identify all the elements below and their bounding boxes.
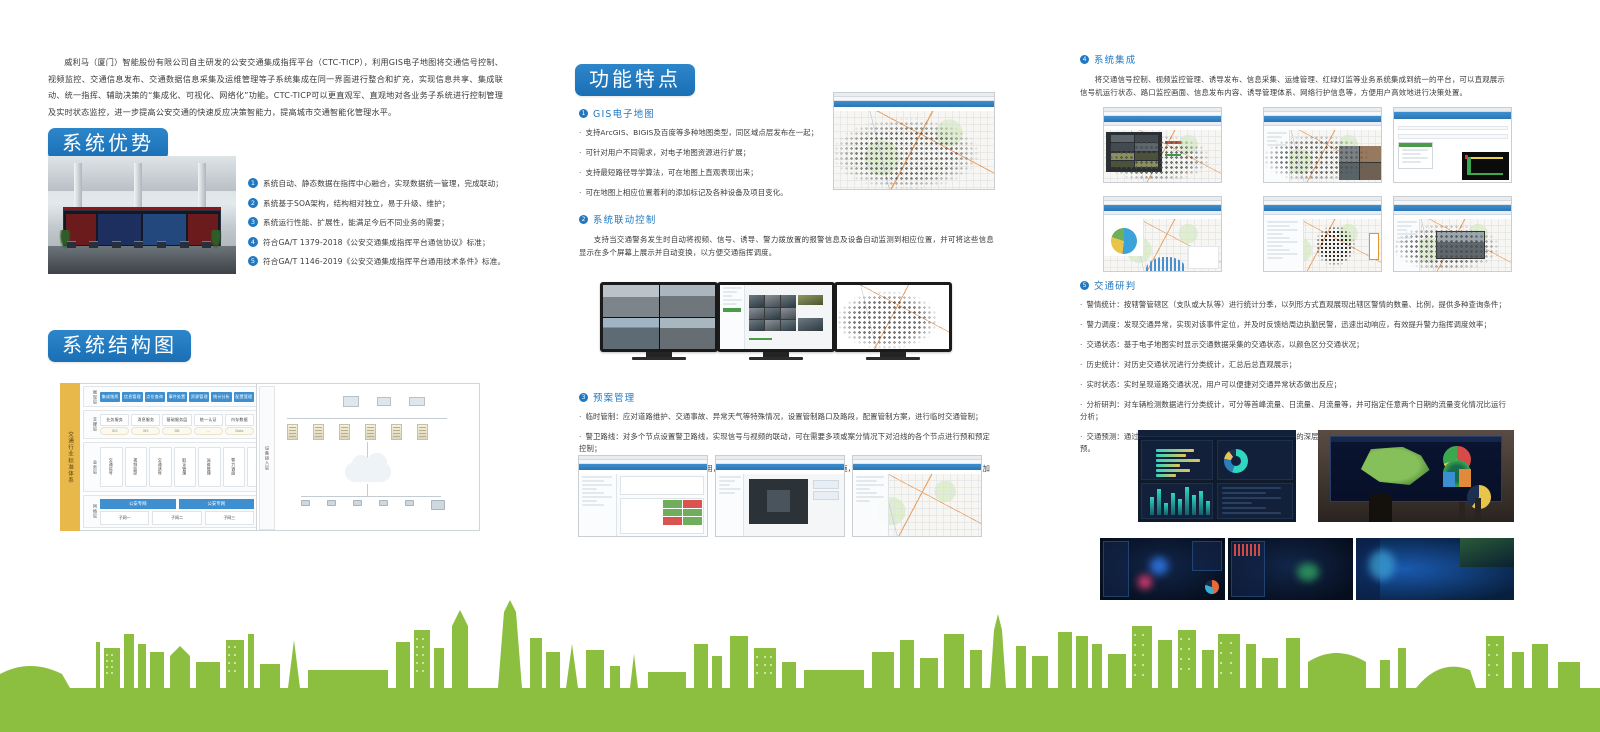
screenshot-plan-list (578, 455, 708, 537)
screenshot-integration-5 (1263, 196, 1382, 272)
feature-item: 警卫路线：对多个节点设置警卫路线，实现信号与视频的联动，可在需要多项或案分情况下… (579, 431, 994, 455)
row-tag: 支撑层 (86, 417, 98, 431)
camera-icon (301, 500, 310, 506)
feature-title: 预案管理 (593, 390, 635, 404)
command-center-photo (48, 156, 236, 274)
structure-cell: 集成指挥 (100, 392, 120, 402)
structure-cell: 业务服务 (100, 414, 129, 426)
structure-cell: 警力调度 (223, 447, 246, 487)
network-side-label: 设备接入层 (259, 386, 275, 530)
structure-cell: 消息服务 (131, 414, 160, 426)
screenshot-integration-6 (1393, 196, 1512, 272)
brochure-page: 威利马（厦门）智能股份有限公司自主研发的公安交通集成指挥平台（CTC-TICP）… (0, 0, 1600, 732)
advantage-text: 系统运行性能、扩展性，能满足今后不同业务的需要； (263, 217, 449, 228)
advantage-list: 1 系统自动、静态数据在指挥中心融合，实现数据统一管理，完成联动； 2 系统基于… (248, 178, 516, 276)
feature-title: GIS电子地图 (593, 106, 655, 120)
structure-cell: 事件处置 (167, 392, 187, 402)
list-item: 4 符合GA/T 1379-2018《公安交通集成指挥平台通信协议》标准； (248, 237, 516, 248)
structure-row-network: 网络层 公安专网 公安专网 子网一 子网二 子网三 (83, 495, 257, 528)
structure-cell: 交通信号 (100, 447, 123, 487)
server-icon (339, 424, 350, 440)
network-bar: 公安专网 (179, 499, 255, 509)
number-badge: 3 (248, 217, 258, 227)
feature-item: 警力调度：发现交通异常，实现对该事件定位，并及时反馈给周边执勤民警，迅速出动响应… (1080, 319, 1508, 331)
monitor-control-ui (717, 282, 835, 366)
structure-pill: DB (162, 427, 191, 435)
structure-row-display: 展现层 集成指挥 信息管理 点位查询 事件处置 资源管理 统计分析 配置管理 (83, 386, 257, 407)
feature-title: 系统集成 (1094, 52, 1136, 66)
server-icon (287, 424, 298, 440)
network-bar: 公安专网 (100, 499, 176, 509)
badge-features-wrap: 功能特点 (575, 64, 695, 96)
structure-row-support: 支撑层 业务服务 消息服务 基础服务层 统一认证 内存数据 GIS WS DB … (83, 410, 257, 439)
feature-item: 可在地图上相应位置着利的添加标记及各种设备及项目变化。 (579, 187, 829, 199)
list-item: 1 系统自动、静态数据在指挥中心融合，实现数据统一管理，完成联动； (248, 178, 516, 189)
feature-item: 警情统计：按辖警管辖区（支队或大队等）进行统计分季，以列形方式直观展现出辖区警情… (1080, 299, 1508, 311)
row-tag: 展现层 (86, 390, 98, 404)
screenshot-plan-map (852, 455, 982, 537)
structure-cell: 内存数据 (225, 414, 254, 426)
server-icon (391, 424, 402, 440)
feature-header: 3 预案管理 (579, 390, 994, 404)
workstation-icon (377, 397, 391, 406)
feature-block-integration: 4 系统集成 将交通信号控制、视频监控管理、诱导发布、信息采集、运维管理、红绿灯… (1080, 52, 1505, 99)
structure-pill: WS (131, 427, 160, 435)
cabinet-icon (431, 500, 445, 510)
number-badge: 1 (248, 178, 258, 188)
number-badge: 2 (248, 198, 258, 208)
network-box: 子网一 (100, 511, 149, 525)
server-icon (417, 424, 428, 440)
network-topology-diagram: 设备接入层 (256, 383, 480, 531)
server-icon (313, 424, 324, 440)
feature-item: 历史统计：对历史交通状况进行分类统计，汇总后总直观展示； (1080, 359, 1508, 371)
structure-pill: ... (194, 427, 223, 435)
intro-paragraph: 威利马（厦门）智能股份有限公司自主研发的公安交通集成指挥平台（CTC-TICP）… (48, 54, 503, 120)
screenshot-integration-2 (1263, 107, 1382, 183)
structure-cell: 运维管理 (198, 447, 221, 487)
printer-icon (409, 397, 425, 406)
network-box: 子网三 (205, 511, 254, 525)
structure-cell: 配置管理 (234, 392, 254, 402)
structure-cell: 取证管理 (174, 447, 197, 487)
feature-header: 4 系统集成 (1080, 52, 1505, 66)
city-skyline-decoration (0, 600, 1600, 732)
structure-cell: 统计分析 (211, 392, 231, 402)
number-badge: 4 (248, 237, 258, 247)
number-badge: 2 (579, 215, 588, 224)
list-item: 3 系统运行性能、扩展性，能满足今后不同业务的需要； (248, 217, 516, 228)
screenshot-integration-3 (1393, 107, 1512, 183)
screenshot-plan-intersection (715, 455, 845, 537)
photo-big-screen-room (1318, 430, 1514, 522)
row-tag: 网络层 (86, 504, 98, 518)
list-item: 5 符合GA/T 1146-2019《公安交通集成指挥平台通用技术条件》标准。 (248, 256, 516, 267)
feature-item: 可针对用户不同需求，对电子地图资源进行扩展； (579, 147, 829, 159)
screenshot-integration-4 (1103, 196, 1222, 272)
list-item: 2 系统基于SOA架构，结构相对独立，易于升级、维护； (248, 198, 516, 209)
detector-icon (405, 500, 414, 506)
row-tag: 业务层 (86, 460, 98, 474)
workstation-icon (343, 396, 359, 407)
structure-pill: Data (225, 427, 254, 435)
screenshot-dark-board-3 (1356, 538, 1514, 600)
number-badge: 3 (579, 393, 588, 402)
feature-item: 实时状态：实时呈现道路交通状况，用户可以便捷对交通异常状态做出反应； (1080, 379, 1508, 391)
feature-header: 1 GIS电子地图 (579, 106, 829, 120)
advantage-text: 符合GA/T 1146-2019《公安交通集成指挥平台通用技术条件》标准。 (263, 256, 505, 267)
network-box: 子网二 (152, 511, 201, 525)
structure-pill: GIS (100, 427, 129, 435)
advantage-text: 系统自动、静态数据在指挥中心融合，实现数据统一管理，完成联动； (263, 178, 503, 189)
feature-item: 交通状态：基于电子地图实时显示交通数据采集的交通状态，以颜色区分交通状况； (1080, 339, 1508, 351)
structure-cell: 视频监控 (125, 447, 148, 487)
screenshot-dark-board-1 (1100, 538, 1225, 600)
screenshot-dark-dashboard (1138, 430, 1296, 522)
badge-structure: 系统结构图 (48, 330, 191, 362)
advantage-text: 符合GA/T 1379-2018《公安交通集成指挥平台通信协议》标准； (263, 237, 490, 248)
structure-cell: 信息管理 (122, 392, 142, 402)
camera-icon (327, 500, 336, 506)
structure-cell: 交通诱导 (149, 447, 172, 487)
feature-item: 支持最短路径导学算法，可在地图上直观表现出来； (579, 167, 829, 179)
feature-item: 支持当交通警务发生时自动将视频、信号、诱导、警力拨放置的报警信息及设备自动监测到… (579, 233, 994, 259)
feature-item: 支持ArcGIS、BIGIS及百度等多种地图类型，同区域点层发布在一起； (579, 127, 829, 139)
structure-cell: 统一认证 (194, 414, 223, 426)
number-badge: 1 (579, 109, 588, 118)
badge-structure-wrap: 系统结构图 (48, 330, 191, 362)
structure-cell: 基础服务层 (162, 414, 191, 426)
structure-cell: 点位查询 (145, 392, 165, 402)
monitor-cctv (600, 282, 718, 366)
cloud-icon (345, 462, 391, 482)
feature-item: 将交通信号控制、视频监控管理、诱导发布、信息采集、运维管理、红绿灯监等业务系统集… (1080, 73, 1505, 99)
screenshot-dark-board-2 (1228, 538, 1353, 600)
feature-item: 分析研判：对车辆检测数据进行分类统计，可分等首峰流量、日流量、月流量等，并可指定… (1080, 399, 1508, 423)
skyline-svg (0, 600, 1600, 732)
screenshot-gis-map (833, 92, 995, 190)
number-badge: 5 (248, 256, 258, 266)
badge-features: 功能特点 (575, 64, 695, 96)
monitor-gis-map (834, 282, 952, 366)
feature-title: 系统联动控制 (593, 212, 656, 226)
structure-cell: 资源管理 (189, 392, 209, 402)
structure-left-label: 交通行业标准体系 (60, 383, 80, 531)
signal-icon (353, 500, 362, 506)
server-icon (365, 424, 376, 440)
screenshot-integration-1 (1103, 107, 1222, 183)
feature-title: 交通研判 (1094, 278, 1136, 292)
feature-block-gis: 1 GIS电子地图 支持ArcGIS、BIGIS及百度等多种地图类型，同区域点层… (579, 106, 829, 207)
feature-block-linkage: 2 系统联动控制 支持当交通警务发生时自动将视频、信号、诱导、警力拨放置的报警信… (579, 212, 994, 259)
feature-header: 2 系统联动控制 (579, 212, 994, 226)
number-badge: 4 (1080, 55, 1089, 64)
feature-item: 临时管制：应对道路维护、交通事故、异常天气等特殊情况，设置管制路口及路段，配置管… (579, 411, 994, 423)
feature-header: 5 交通研判 (1080, 278, 1508, 292)
advantage-text: 系统基于SOA架构，结构相对独立，易于升级、维护； (263, 198, 450, 209)
number-badge: 5 (1080, 281, 1089, 290)
structure-row-business: 业务层 交通信号 视频监控 交通诱导 取证管理 运维管理 警力调度 非现场执法 … (83, 442, 257, 492)
camera-icon (379, 500, 388, 506)
